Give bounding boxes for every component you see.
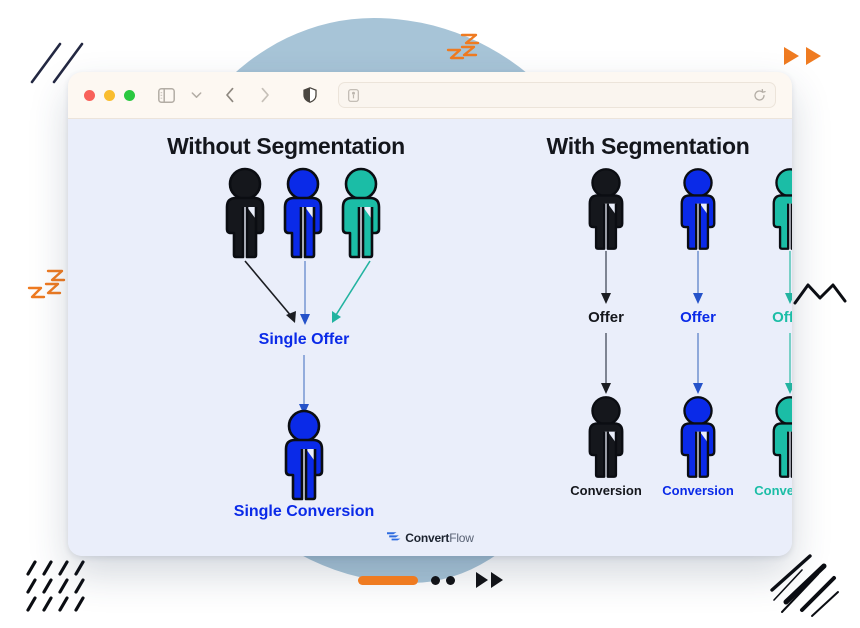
back-chevron-icon[interactable] bbox=[225, 87, 235, 103]
segment-blue-person-bottom bbox=[670, 395, 726, 479]
carousel-dot-2[interactable] bbox=[446, 576, 455, 585]
segment-black-arrow-to-conversion bbox=[599, 333, 613, 397]
minimize-button[interactable] bbox=[104, 90, 115, 101]
maximize-button[interactable] bbox=[124, 90, 135, 101]
panel-without-segmentation: Without Segmentation bbox=[68, 119, 504, 556]
progress-bar[interactable] bbox=[358, 576, 418, 585]
forward-chevron-icon[interactable] bbox=[260, 87, 270, 103]
segment-black-person-top bbox=[578, 167, 634, 251]
segment-black-offer-label: Offer bbox=[588, 309, 624, 326]
person-single-conversion bbox=[273, 409, 335, 501]
sidebar-toggle-icon[interactable] bbox=[158, 88, 175, 103]
panel-with-segmentation: With Segmentation Offer bbox=[504, 119, 792, 556]
person-black bbox=[214, 167, 276, 259]
logo-name-bold: Convert bbox=[405, 531, 449, 545]
screenshot-root: Without Segmentation bbox=[0, 0, 860, 628]
play-triangle-icon-2[interactable] bbox=[491, 572, 503, 588]
carousel-dot-1[interactable] bbox=[431, 576, 440, 585]
browser-titlebar bbox=[68, 72, 792, 119]
carousel-controls bbox=[0, 566, 860, 594]
segment-blue-conversion-label: Conversion bbox=[662, 483, 734, 498]
orange-triangles-decoration bbox=[782, 44, 828, 68]
left-panel-title: Without Segmentation bbox=[68, 133, 504, 160]
carousel-dots bbox=[431, 576, 455, 585]
segment-black-arrow-to-offer bbox=[599, 251, 613, 307]
next-controls bbox=[476, 572, 503, 588]
address-bar[interactable] bbox=[338, 82, 776, 108]
person-teal bbox=[330, 167, 392, 259]
arrow-teal-to-offer bbox=[320, 259, 380, 331]
orange-zigzag-decoration-mid bbox=[26, 268, 74, 310]
segment-blue-person-top bbox=[670, 167, 726, 251]
chevron-down-icon[interactable] bbox=[191, 91, 202, 99]
logo-name-light: Flow bbox=[449, 531, 474, 545]
privacy-shield-icon[interactable] bbox=[303, 87, 317, 103]
close-button[interactable] bbox=[84, 90, 95, 101]
segment-teal-arrow-to-conversion bbox=[783, 333, 792, 397]
segment-teal-person-top bbox=[762, 167, 792, 251]
convertflow-wordmark: ConvertFlow bbox=[405, 531, 474, 545]
right-panel-title: With Segmentation bbox=[504, 133, 792, 160]
convertflow-logo: ConvertFlow bbox=[68, 529, 792, 547]
diagram-canvas: Without Segmentation bbox=[68, 119, 792, 556]
convertflow-mark-icon bbox=[386, 529, 401, 547]
person-blue bbox=[272, 167, 334, 259]
segment-black-conversion-label: Conversion bbox=[570, 483, 642, 498]
page-settings-icon[interactable] bbox=[348, 89, 359, 102]
single-conversion-label: Single Conversion bbox=[234, 503, 374, 521]
segment-blue-arrow-to-offer bbox=[691, 251, 705, 307]
segment-teal-person-bottom bbox=[762, 395, 792, 479]
browser-window: Without Segmentation bbox=[68, 72, 792, 556]
segment-teal-arrow-to-offer bbox=[783, 251, 792, 307]
reload-icon[interactable] bbox=[753, 89, 766, 102]
segment-black-person-bottom bbox=[578, 395, 634, 479]
black-mountain-decoration bbox=[792, 278, 848, 308]
segment-teal-offer-label: Offer bbox=[772, 309, 792, 326]
segment-blue-arrow-to-conversion bbox=[691, 333, 705, 397]
arrow-blue-to-offer bbox=[297, 259, 313, 331]
segment-blue-offer-label: Offer bbox=[680, 309, 716, 326]
single-offer-label: Single Offer bbox=[259, 331, 350, 349]
play-triangle-icon-1[interactable] bbox=[476, 572, 488, 588]
segment-teal-conversion-label: Conversion bbox=[754, 483, 792, 498]
